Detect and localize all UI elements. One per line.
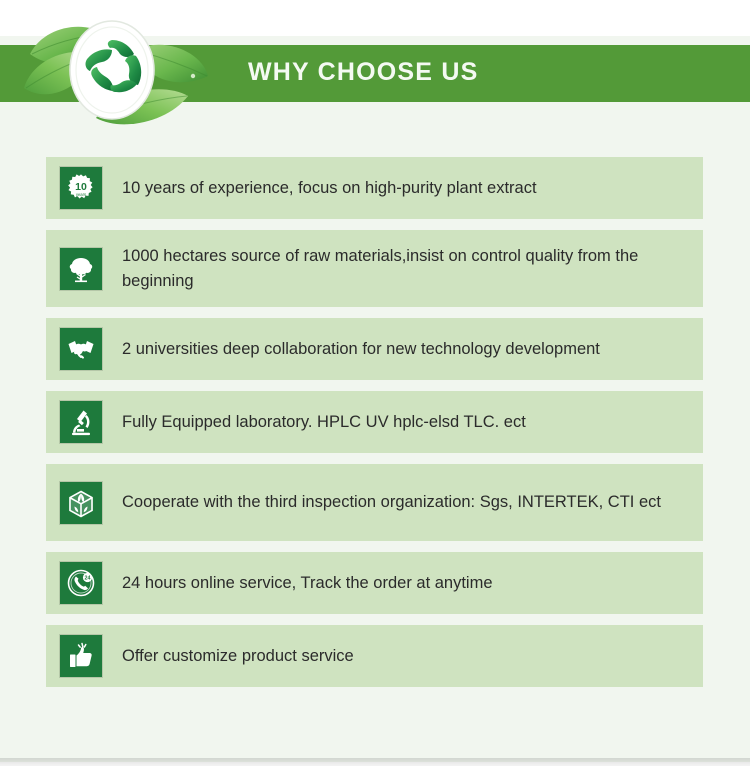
company-logo — [18, 14, 223, 126]
list-item-label: 2 universities deep collaboration for ne… — [122, 337, 689, 362]
list-item: 24 24 hours online service, Track the or… — [46, 552, 703, 614]
list-item: 10 years 10 years of experience, focus o… — [46, 157, 703, 219]
list-item-label: 1000 hectares source of raw materials,in… — [122, 244, 689, 294]
why-choose-us-banner-page: WHY CHOOSE US 10 years 10 years of exper… — [0, 0, 750, 766]
list-item-label: Cooperate with the third inspection orga… — [122, 490, 689, 515]
phone-24h-icon: 24 — [60, 562, 102, 604]
list-item: Fully Equipped laboratory. HPLC UV hplc-… — [46, 391, 703, 453]
panel-drop-shadow — [0, 758, 750, 766]
feature-list: 10 years 10 years of experience, focus o… — [46, 157, 703, 698]
logo-disc — [70, 21, 154, 119]
list-item-label: Offer customize product service — [122, 644, 689, 669]
svg-text:years: years — [76, 192, 86, 197]
svg-text:24: 24 — [85, 575, 91, 581]
thumbs-up-icon — [60, 635, 102, 677]
list-item: 2 universities deep collaboration for ne… — [46, 318, 703, 380]
certification-cube-icon — [60, 482, 102, 524]
list-item-label: 10 years of experience, focus on high-pu… — [122, 176, 689, 201]
ten-years-badge-icon: 10 years — [60, 167, 102, 209]
list-item-label: 24 hours online service, Track the order… — [122, 571, 689, 596]
tree-icon — [60, 248, 102, 290]
list-item: 1000 hectares source of raw materials,in… — [46, 230, 703, 307]
list-item-label: Fully Equipped laboratory. HPLC UV hplc-… — [122, 410, 689, 435]
handshake-icon — [60, 328, 102, 370]
microscope-icon — [60, 401, 102, 443]
page-title: WHY CHOOSE US — [248, 58, 478, 87]
list-item: Offer customize product service — [46, 625, 703, 687]
list-item: Cooperate with the third inspection orga… — [46, 464, 703, 541]
